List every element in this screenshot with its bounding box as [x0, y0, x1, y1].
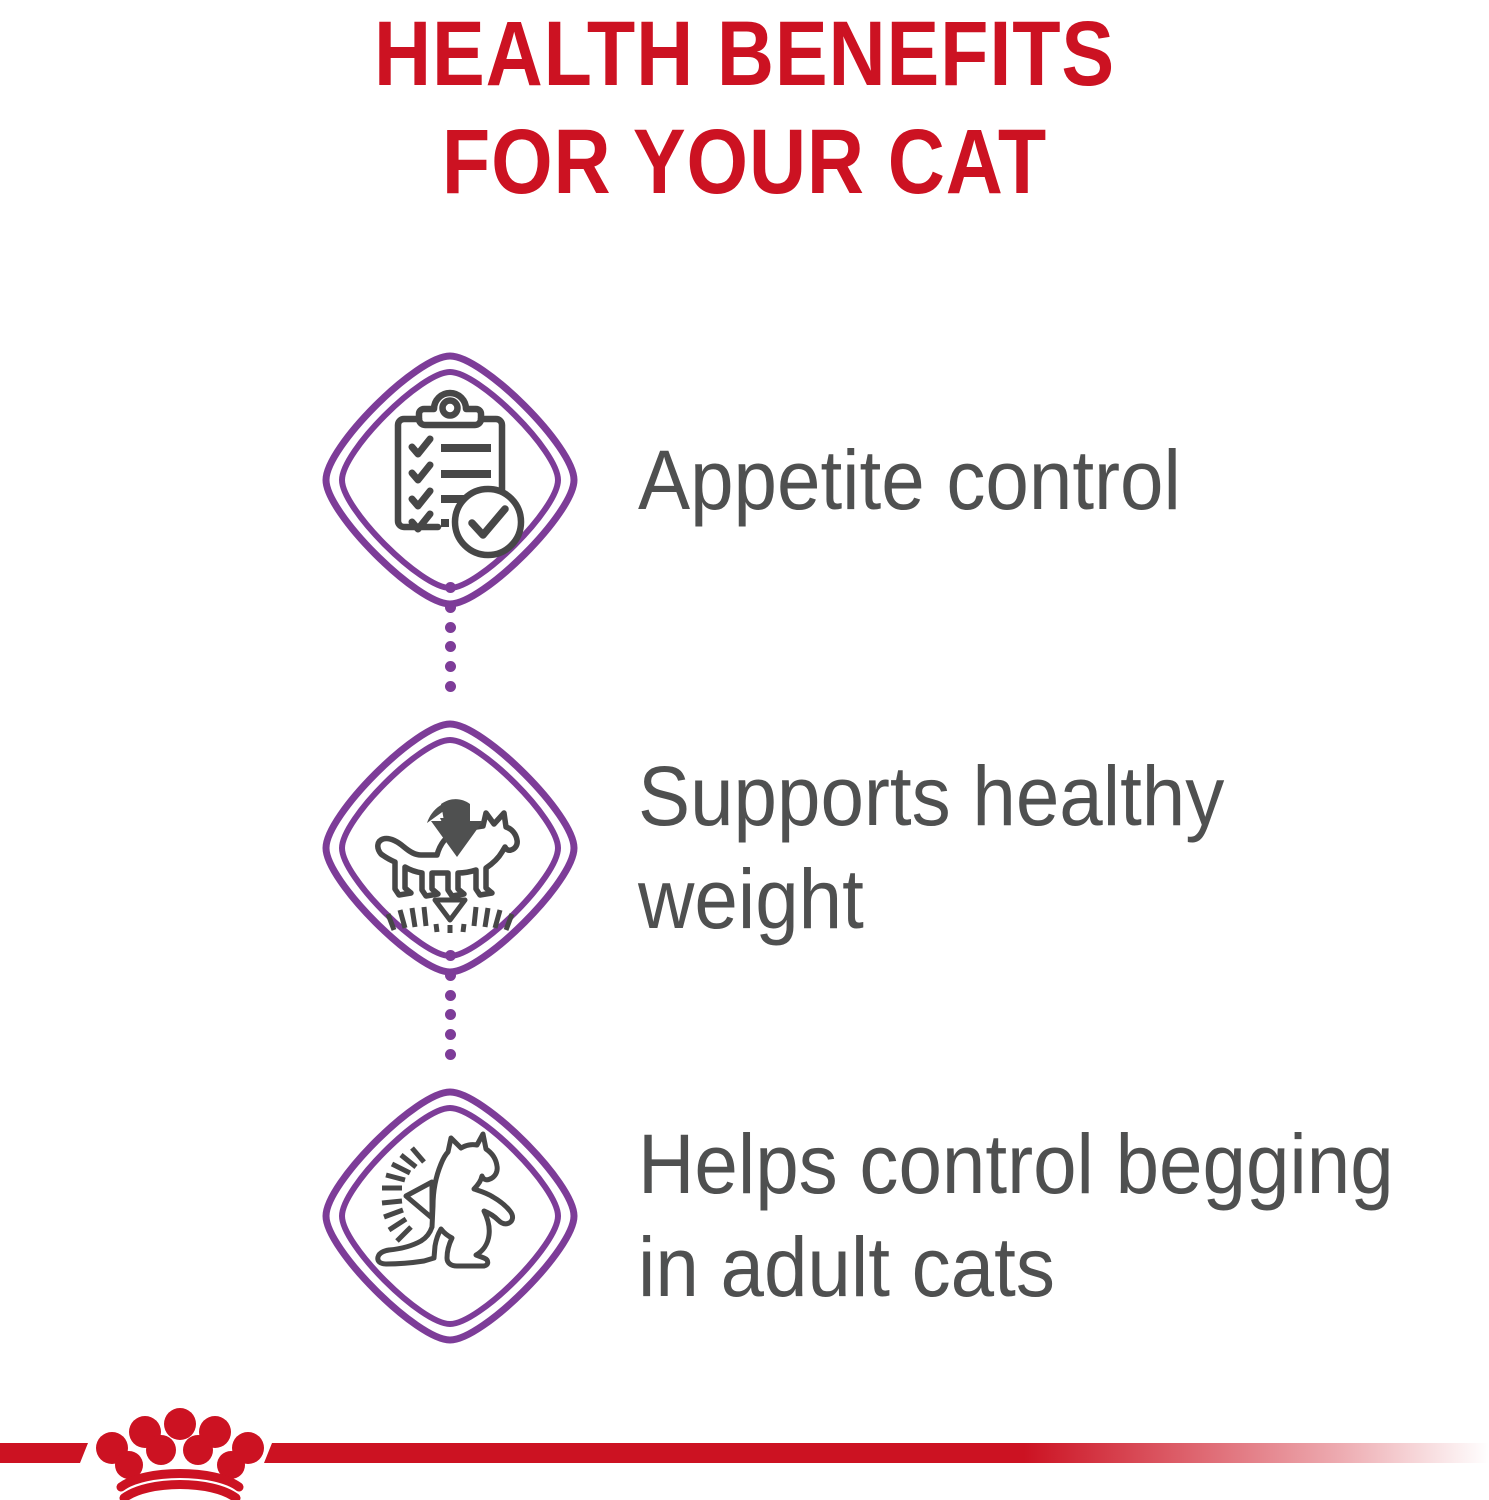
benefit-label-healthy-weight: Supports healthy weight [638, 745, 1429, 951]
benefit-icon-badge [320, 350, 580, 610]
connector-dot [445, 990, 456, 1001]
clipboard-checklist-icon [320, 350, 580, 610]
footer-bar-right [264, 1443, 1489, 1463]
benefit-row-begging-control: Helps control begging in adult cats [0, 1032, 1489, 1400]
page-title-line-2: FOR YOUR CAT [104, 108, 1385, 216]
royal-canin-crown-logo [0, 1390, 1489, 1500]
benefit-label-begging-control: Helps control begging in adult cats [638, 1113, 1429, 1319]
connector-dot [445, 970, 456, 981]
benefit-icon-badge [320, 1086, 580, 1346]
cat-on-scale-icon [320, 718, 580, 978]
connector-dot [445, 602, 456, 613]
page-title-line-1: HEALTH BENEFITS [104, 0, 1385, 108]
connector-dot [445, 622, 456, 633]
footer-bar-left [0, 1443, 88, 1463]
connector-dot [445, 641, 456, 652]
connector-dot [445, 1009, 456, 1020]
crown-dots [96, 1408, 264, 1479]
page-title: HEALTH BENEFITS FOR YOUR CAT [0, 0, 1489, 216]
benefit-icon-badge [320, 718, 580, 978]
footer-brand-bar [0, 1390, 1489, 1500]
begging-cat-icon [320, 1086, 580, 1346]
benefits-list: Appetite control [0, 296, 1489, 1400]
connector-dot [445, 582, 456, 593]
benefit-row-appetite-control: Appetite control [0, 296, 1489, 664]
benefit-label-appetite-control: Appetite control [638, 429, 1181, 532]
crown-arcs [121, 1474, 239, 1499]
connector-dot [445, 950, 456, 961]
benefit-row-healthy-weight: Supports healthy weight [0, 664, 1489, 1032]
